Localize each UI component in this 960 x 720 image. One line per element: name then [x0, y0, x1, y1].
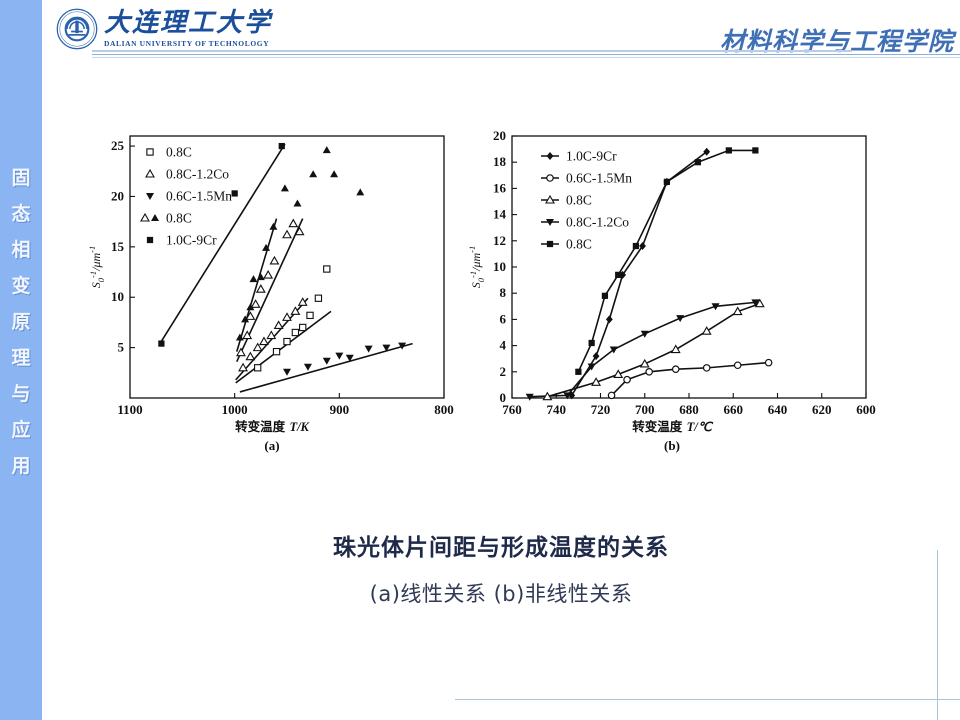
- svg-text:800: 800: [434, 402, 454, 417]
- svg-text:0.8C: 0.8C: [566, 237, 592, 252]
- figure-caption-main: 珠光体片间距与形成温度的关系: [42, 528, 960, 562]
- figure-caption-sub: (a)线性关系 (b)非线性关系: [42, 578, 960, 608]
- svg-text:10: 10: [111, 289, 124, 304]
- svg-text:1000: 1000: [222, 402, 248, 417]
- chart-panel-b: 0246810121416182076074072070068066064062…: [466, 118, 878, 518]
- university-name-cn: 大连理工大学: [104, 10, 272, 37]
- sidebar-vertical-title: 固 态 相 变 原 理 与 应 用: [0, 160, 42, 484]
- svg-text:8: 8: [500, 285, 507, 300]
- svg-text:0.8C: 0.8C: [166, 145, 192, 160]
- svg-text:20: 20: [111, 188, 124, 203]
- svg-text:620: 620: [812, 402, 832, 417]
- svg-text:1.0C-9Cr: 1.0C-9Cr: [566, 149, 617, 164]
- svg-text:720: 720: [591, 402, 611, 417]
- department-title: 材料科学与工程学院: [720, 22, 954, 58]
- svg-text:S0-1/μm-1: S0-1/μm-1: [467, 246, 486, 288]
- header: 大连理工大学 DALIAN UNIVERSITY OF TECHNOLOGY 材…: [42, 0, 960, 70]
- sidebar: 固 态 相 变 原 理 与 应 用: [0, 0, 42, 720]
- header-divider-3: [92, 57, 960, 58]
- svg-text:25: 25: [111, 138, 125, 153]
- svg-text:20: 20: [493, 128, 506, 143]
- chart-b-panel-tag: (b): [466, 438, 878, 454]
- svg-text:1100: 1100: [117, 402, 142, 417]
- svg-text:2: 2: [500, 364, 507, 379]
- figure-container: 51015202511001000900800S0-1/μm-10.8C0.8C…: [88, 118, 878, 518]
- svg-text:12: 12: [493, 233, 506, 248]
- svg-text:900: 900: [330, 402, 350, 417]
- svg-text:5: 5: [118, 340, 125, 355]
- svg-text:6: 6: [500, 311, 507, 326]
- svg-text:760: 760: [502, 402, 522, 417]
- svg-text:680: 680: [679, 402, 699, 417]
- svg-text:1.0C-9Cr: 1.0C-9Cr: [166, 233, 217, 248]
- svg-text:14: 14: [493, 207, 507, 222]
- svg-text:640: 640: [768, 402, 788, 417]
- header-divider-2: [92, 54, 960, 55]
- svg-text:S0-1/μm-1: S0-1/μm-1: [88, 246, 106, 288]
- svg-text:0.8C: 0.8C: [166, 211, 192, 226]
- dut-seal-logo-icon: [56, 8, 98, 50]
- svg-text:0.6C-1.5Mn: 0.6C-1.5Mn: [166, 189, 232, 204]
- university-logo: 大连理工大学 DALIAN UNIVERSITY OF TECHNOLOGY: [56, 8, 272, 50]
- chart-b-xlabel: 转变温度 T/℃: [466, 416, 878, 435]
- svg-text:0.8C-1.2Co: 0.8C-1.2Co: [566, 215, 629, 230]
- chart-panel-a: 51015202511001000900800S0-1/μm-10.8C0.8C…: [88, 118, 456, 518]
- svg-text:0.8C-1.2Co: 0.8C-1.2Co: [166, 167, 229, 182]
- footer-divider: [455, 699, 960, 700]
- chart-b-canvas: 0246810121416182076074072070068066064062…: [466, 118, 878, 448]
- svg-text:740: 740: [547, 402, 567, 417]
- svg-text:600: 600: [856, 402, 876, 417]
- svg-text:660: 660: [724, 402, 744, 417]
- svg-text:15: 15: [111, 239, 125, 254]
- chart-a-panel-tag: (a): [88, 438, 456, 454]
- svg-text:0.8C: 0.8C: [566, 193, 592, 208]
- chart-a-canvas: 51015202511001000900800S0-1/μm-10.8C0.8C…: [88, 118, 456, 448]
- svg-text:0.6C-1.5Mn: 0.6C-1.5Mn: [566, 171, 632, 186]
- svg-text:700: 700: [635, 402, 655, 417]
- university-name-en: DALIAN UNIVERSITY OF TECHNOLOGY: [104, 39, 272, 48]
- chart-a-xlabel: 转变温度 T/K: [88, 416, 456, 435]
- svg-text:4: 4: [500, 338, 507, 353]
- svg-text:10: 10: [493, 259, 506, 274]
- svg-text:16: 16: [493, 180, 507, 195]
- svg-text:18: 18: [493, 154, 507, 169]
- footer-vertical-divider: [937, 550, 938, 720]
- header-divider-1: [92, 50, 852, 52]
